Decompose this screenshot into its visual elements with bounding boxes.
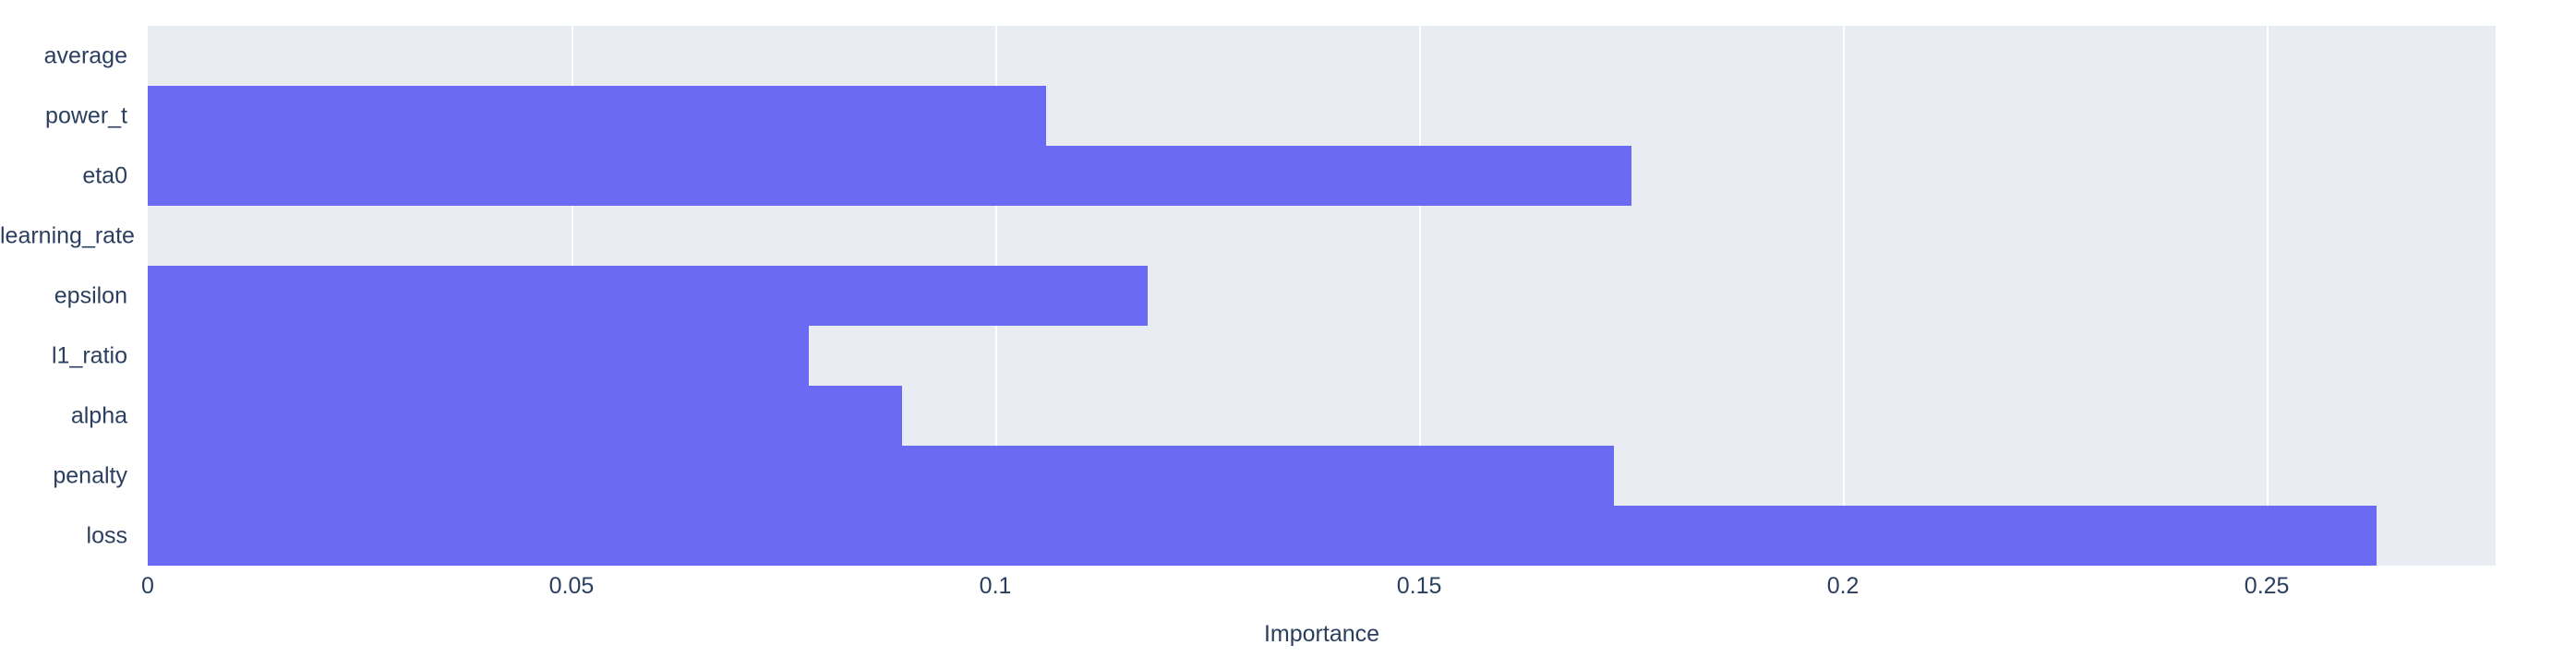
x-tick-label-2: 0.1 [980,575,1012,598]
y-tick-label-alpha: alpha [0,404,134,427]
x-axis-title: Importance [148,623,2496,646]
y-tick-label-epsilon: epsilon [0,284,134,307]
plot-area [148,26,2496,566]
bar-row [148,506,2496,566]
y-tick-label-power_t: power_t [0,104,134,127]
y-tick-label-penalty: penalty [0,464,134,487]
chart-page: averagepower_teta0learning_rateepsilonl1… [0,0,2576,669]
chart-title [148,0,2496,4]
bar-row [148,446,2496,506]
bar-row [148,386,2496,446]
bar-row [148,206,2496,266]
bar-row [148,86,2496,146]
bar-l1_ratio[interactable] [148,326,809,386]
bar-epsilon[interactable] [148,266,1148,326]
y-axis-tick-labels: averagepower_teta0learning_rateepsilonl1… [0,26,140,566]
bar-eta0[interactable] [148,146,1631,206]
bar-alpha[interactable] [148,386,902,446]
y-tick-label-average: average [0,44,134,67]
x-axis: 00.050.10.150.20.25 [148,566,2496,612]
x-tick-label-5: 0.25 [2245,575,2290,598]
bar-loss[interactable] [148,506,2377,566]
bar-row [148,146,2496,206]
bar-row [148,26,2496,86]
y-tick-label-eta0: eta0 [0,164,134,187]
y-tick-label-loss: loss [0,524,134,547]
y-tick-label-learning_rate: learning_rate [0,224,134,247]
x-tick-label-1: 0.05 [549,575,595,598]
bar-row [148,266,2496,326]
bar-row [148,326,2496,386]
y-tick-label-l1_ratio: l1_ratio [0,344,134,367]
bar-penalty[interactable] [148,446,1614,506]
x-tick-label-3: 0.15 [1397,575,1442,598]
bar-power_t[interactable] [148,86,1046,146]
x-tick-label-4: 0.2 [1827,575,1860,598]
x-tick-label-0: 0 [141,575,154,598]
